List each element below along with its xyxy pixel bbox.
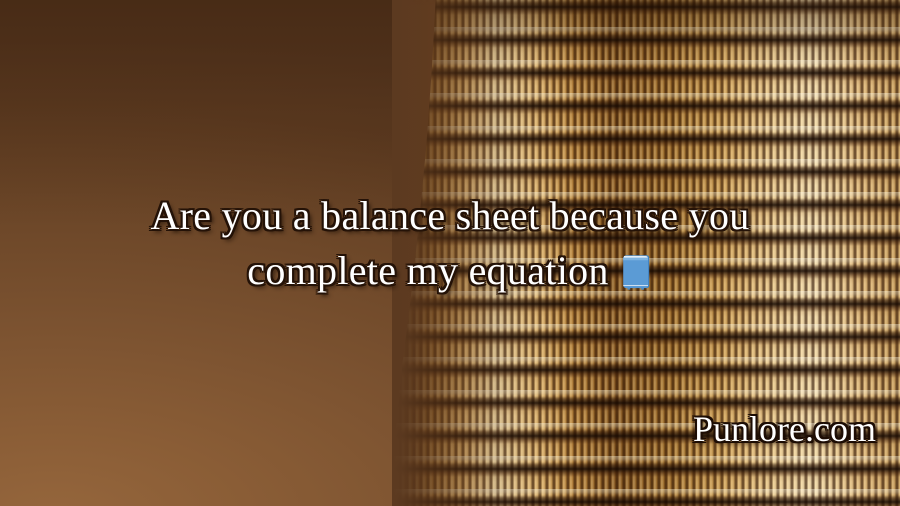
watermark-punlore: Punlore.com: [693, 408, 876, 450]
quote-image-canvas: Are you a balance sheet because you comp…: [0, 0, 900, 506]
